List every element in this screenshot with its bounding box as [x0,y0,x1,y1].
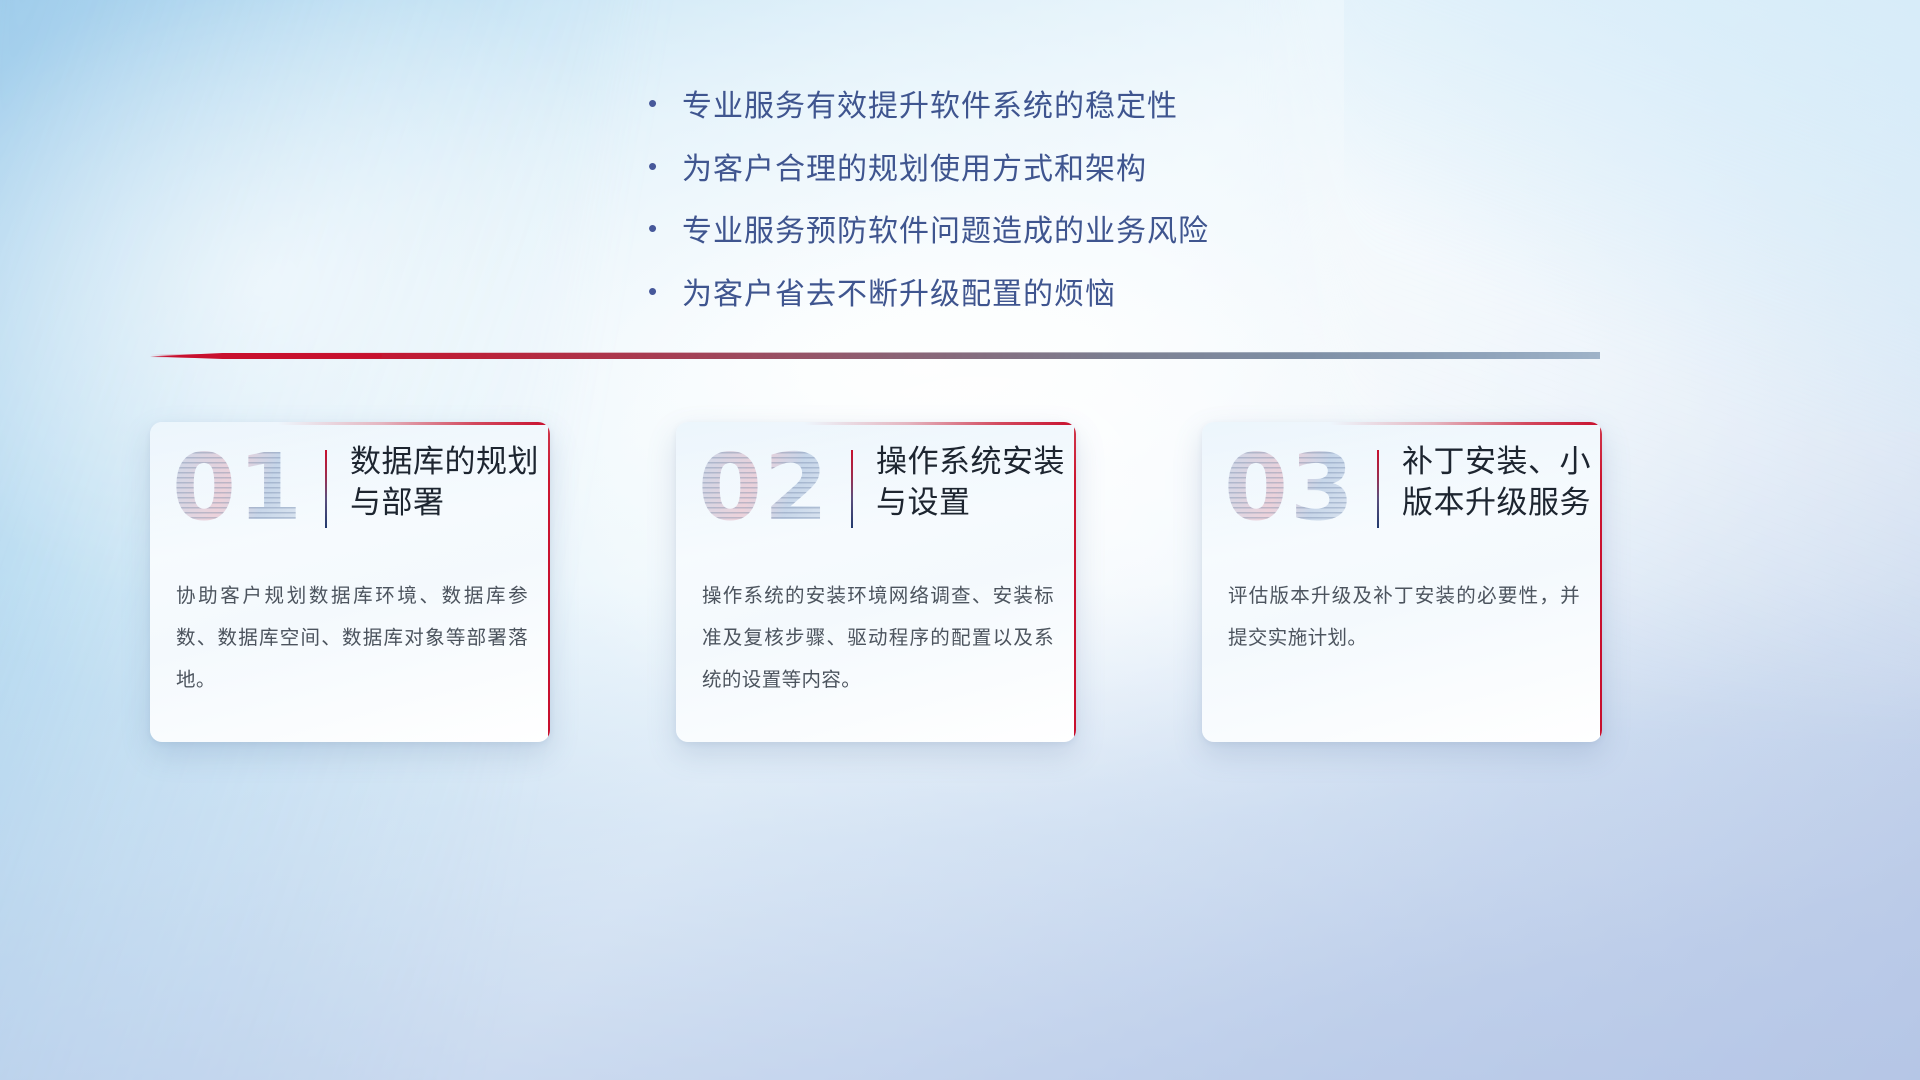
bullet-text: 专业服务有效提升软件系统的稳定性 [682,86,1178,129]
card-body-text: 操作系统的安装环境网络调查、安装标准及复核步骤、驱动程序的配置以及系统的设置等内… [702,576,1054,702]
list-item: • 专业服务预防软件问题造成的业务风险 [640,211,1280,254]
slide-canvas: • 专业服务有效提升软件系统的稳定性 • 为客户合理的规划使用方式和架构 • 专… [0,0,1920,1080]
section-divider [150,348,1600,364]
card-number-watermark: 03 [1224,442,1356,534]
card-accent-edge-top [278,422,550,425]
card-row: 01 数据库的规划与部署 协助客户规划数据库环境、数据库参数、数据库空间、数据库… [150,422,1602,744]
card-03[interactable]: 03 补丁安装、小版本升级服务 评估版本升级及补丁安装的必要性，并提交实施计划。 [1202,422,1602,742]
card-01[interactable]: 01 数据库的规划与部署 协助客户规划数据库环境、数据库参数、数据库空间、数据库… [150,422,550,742]
card-number-watermark: 01 [172,442,304,534]
bullet-text: 为客户合理的规划使用方式和架构 [682,149,1147,192]
divider-accent-tail [150,354,382,358]
card-title: 操作系统安装与设置 [876,442,1072,524]
card-title: 补丁安装、小版本升级服务 [1402,442,1598,524]
card-header: 02 操作系统安装与设置 [676,436,1076,564]
card-title: 数据库的规划与部署 [350,442,546,524]
bullet-dot-icon: • [640,90,682,116]
card-title-separator [325,450,327,528]
card-title-separator [1377,450,1379,528]
card-header: 01 数据库的规划与部署 [150,436,550,564]
bullet-text: 为客户省去不断升级配置的烦恼 [682,274,1116,317]
bullet-dot-icon: • [640,153,682,179]
card-accent-edge-top [1330,422,1602,425]
list-item: • 为客户省去不断升级配置的烦恼 [640,274,1280,317]
bullet-text: 专业服务预防软件问题造成的业务风险 [682,211,1209,254]
card-number-watermark: 02 [698,442,830,534]
bullet-dot-icon: • [640,278,682,304]
card-header: 03 补丁安装、小版本升级服务 [1202,436,1602,564]
card-title-separator [851,450,853,528]
bullet-dot-icon: • [640,215,682,241]
bullet-list: • 专业服务有效提升软件系统的稳定性 • 为客户合理的规划使用方式和架构 • 专… [0,86,1920,336]
card-body-text: 评估版本升级及补丁安装的必要性，并提交实施计划。 [1228,576,1580,660]
list-item: • 专业服务有效提升软件系统的稳定性 [640,86,1280,129]
card-accent-edge-top [804,422,1076,425]
card-body-text: 协助客户规划数据库环境、数据库参数、数据库空间、数据库对象等部署落地。 [176,576,528,702]
list-item: • 为客户合理的规划使用方式和架构 [640,149,1280,192]
card-02[interactable]: 02 操作系统安装与设置 操作系统的安装环境网络调查、安装标准及复核步骤、驱动程… [676,422,1076,742]
